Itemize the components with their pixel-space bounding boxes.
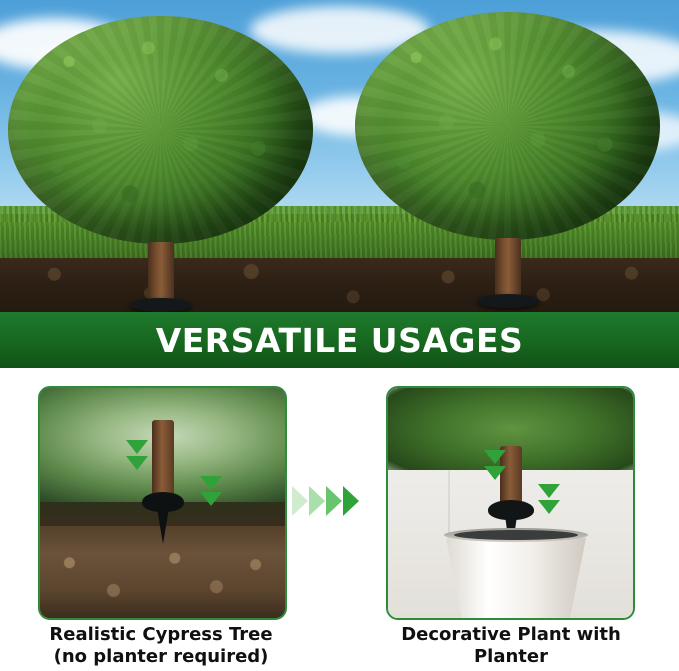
soil-band — [0, 258, 679, 312]
chevron-down-icon — [484, 466, 506, 480]
tree-trunk — [152, 420, 174, 500]
comparison-section: Realistic Cypress Tree (no planter requi… — [0, 368, 679, 671]
arrow-right-icon — [343, 486, 359, 516]
arrow-right-icon — [326, 486, 342, 516]
left-caption: Realistic Cypress Tree (no planter requi… — [18, 624, 304, 668]
tree-trunk — [148, 242, 174, 304]
chevron-down-icon — [200, 476, 222, 490]
indoor-planter-scene — [388, 388, 633, 618]
topiary-tree — [8, 16, 313, 244]
left-scene-panel — [38, 386, 287, 620]
topiary-tree — [355, 12, 660, 240]
chevron-down-icon — [484, 450, 506, 464]
foliage-ball — [8, 16, 313, 244]
outdoor-soil-scene — [40, 388, 285, 618]
stake-point — [157, 508, 169, 544]
planter-soil — [454, 530, 578, 540]
transition-arrows — [292, 486, 384, 516]
white-planter — [446, 538, 586, 620]
right-caption-line1: Decorative Plant with — [368, 624, 654, 646]
right-scene-panel — [386, 386, 635, 620]
right-caption-line2: Planter — [368, 646, 654, 668]
chevron-down-icon — [200, 492, 222, 506]
right-caption: Decorative Plant with Planter — [368, 624, 654, 668]
tree-base-stake — [477, 294, 539, 308]
banner-title: VERSATILE USAGES — [156, 321, 524, 360]
tree-base-stake — [130, 298, 192, 312]
arrow-right-icon — [309, 486, 325, 516]
hero-photo — [0, 0, 679, 312]
section-banner: VERSATILE USAGES — [0, 312, 679, 368]
left-caption-line1: Realistic Cypress Tree — [18, 624, 304, 646]
tree-trunk — [495, 238, 521, 300]
chevron-down-icon — [538, 484, 560, 498]
foliage-texture — [355, 12, 660, 240]
chevron-down-icon — [126, 456, 148, 470]
foliage-ball — [355, 12, 660, 240]
foliage-texture — [8, 16, 313, 244]
arrow-right-icon — [292, 486, 308, 516]
left-caption-line2: (no planter required) — [18, 646, 304, 668]
product-infographic: VERSATILE USAGES — [0, 0, 679, 671]
chevron-down-icon — [126, 440, 148, 454]
chevron-down-icon — [538, 500, 560, 514]
